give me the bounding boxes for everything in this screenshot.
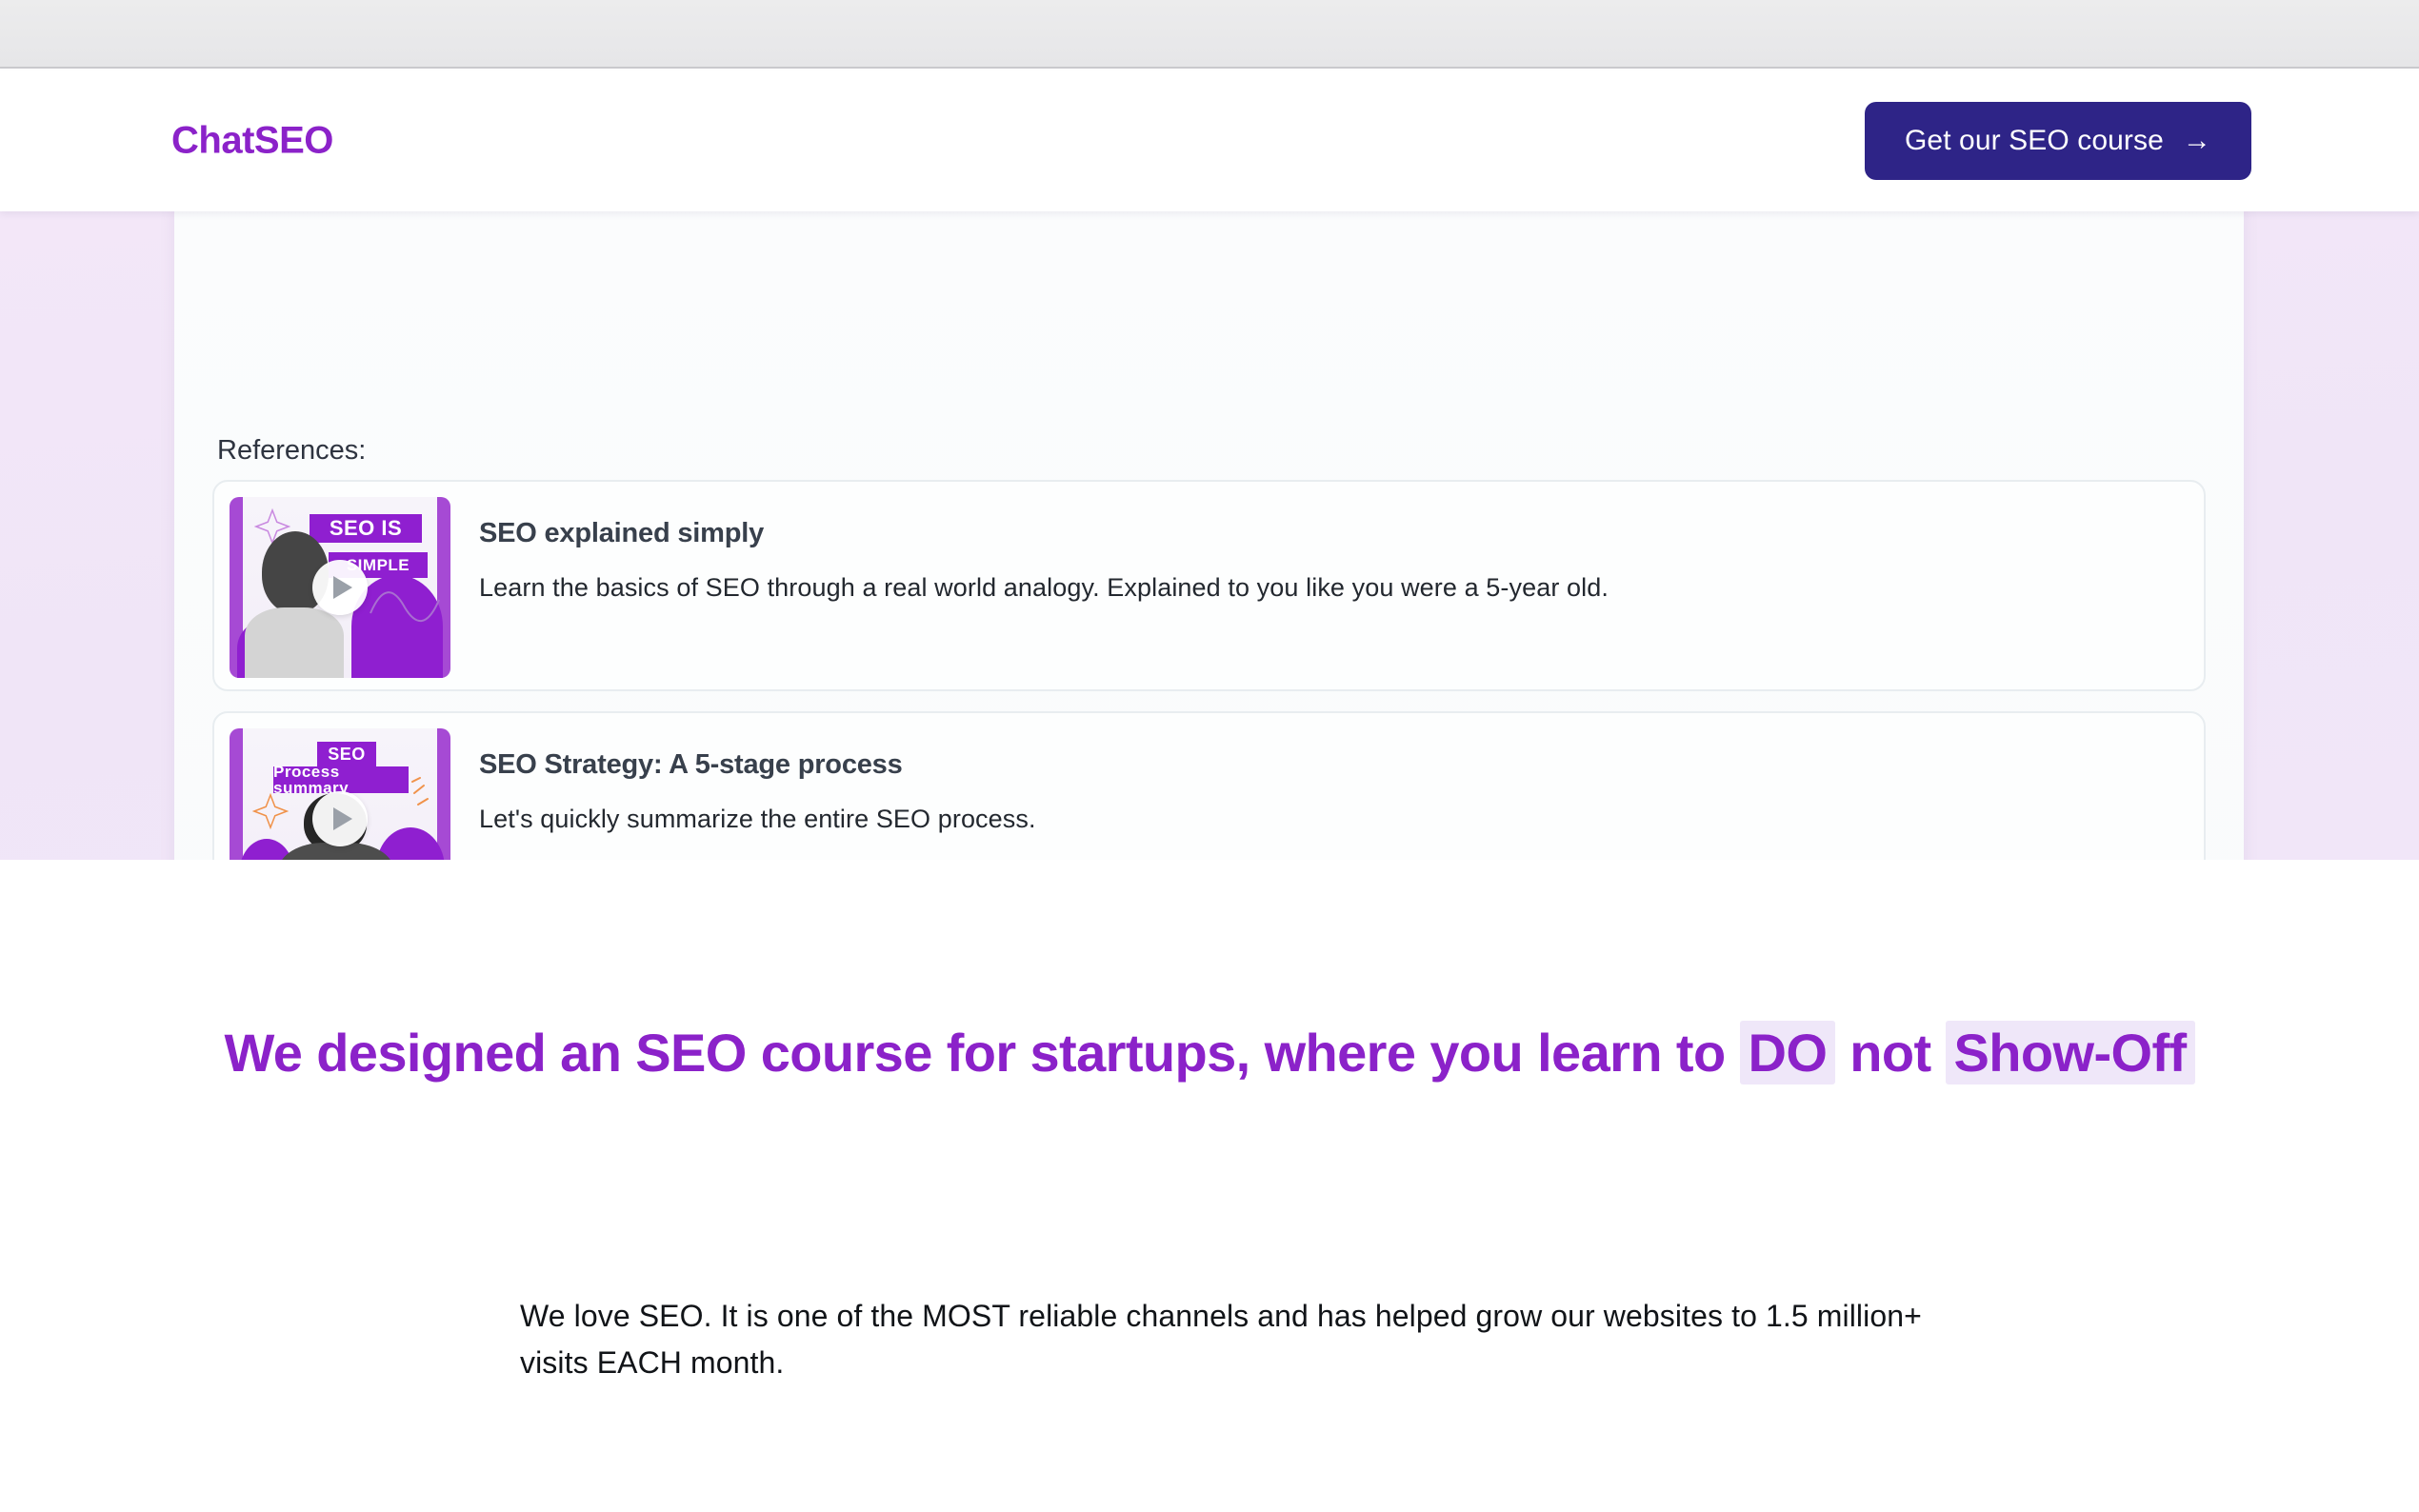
references-panel: References: SEO IS SIMPLE <box>174 211 2244 860</box>
heading-highlight-do: DO <box>1740 1021 1836 1084</box>
hero-section: We designed an SEO course for startups, … <box>0 860 2419 1512</box>
heading-part-2: not <box>1835 1023 1945 1083</box>
header-inner: ChatSEO Get our SEO course → <box>0 70 2419 211</box>
reference-title: SEO explained simply <box>479 518 1609 549</box>
play-icon[interactable] <box>312 791 368 846</box>
reference-card[interactable]: SEO IS SIMPLE SEO explained simply <box>212 480 2206 691</box>
video-thumbnail[interactable]: SEO Process summary <box>230 728 450 860</box>
thumbnail-edge-left <box>230 728 243 860</box>
references-section: References: SEO IS SIMPLE <box>0 211 2419 860</box>
reference-card[interactable]: SEO Process summary SEO Strategy: <box>212 711 2206 860</box>
wave-icon <box>369 585 441 628</box>
hero-body-text: We love SEO. It is one of the MOST relia… <box>520 1293 1949 1385</box>
reference-description: Let's quickly summarize the entire SEO p… <box>479 805 1036 834</box>
get-seo-course-button[interactable]: Get our SEO course → <box>1865 102 2251 180</box>
browser-chrome-bar <box>0 0 2419 69</box>
spark-lines-icon <box>410 776 443 816</box>
brand-logo[interactable]: ChatSEO <box>171 120 333 163</box>
hero-heading: We designed an SEO course for startups, … <box>0 1017 2419 1089</box>
thumbnail-line2: Process summary <box>273 766 409 793</box>
play-triangle <box>333 576 352 599</box>
references-label: References: <box>217 435 366 467</box>
site-header: ChatSEO Get our SEO course → <box>0 70 2419 211</box>
play-triangle <box>333 807 352 830</box>
play-icon[interactable] <box>312 560 368 615</box>
video-thumbnail[interactable]: SEO IS SIMPLE <box>230 497 450 678</box>
reference-text: SEO Strategy: A 5-stage process Let's qu… <box>450 728 1036 834</box>
reference-description: Learn the basics of SEO through a real w… <box>479 573 1609 603</box>
page-viewport: ChatSEO Get our SEO course → References: <box>0 0 2419 1512</box>
arrow-right-icon: → <box>2183 127 2211 155</box>
heading-highlight-showoff: Show-Off <box>1946 1021 2195 1084</box>
heading-part-1: We designed an SEO course for startups, … <box>224 1023 1739 1083</box>
reference-text: SEO explained simply Learn the basics of… <box>450 497 1609 603</box>
reference-title: SEO Strategy: A 5-stage process <box>479 749 1036 781</box>
cta-label: Get our SEO course <box>1905 125 2164 157</box>
